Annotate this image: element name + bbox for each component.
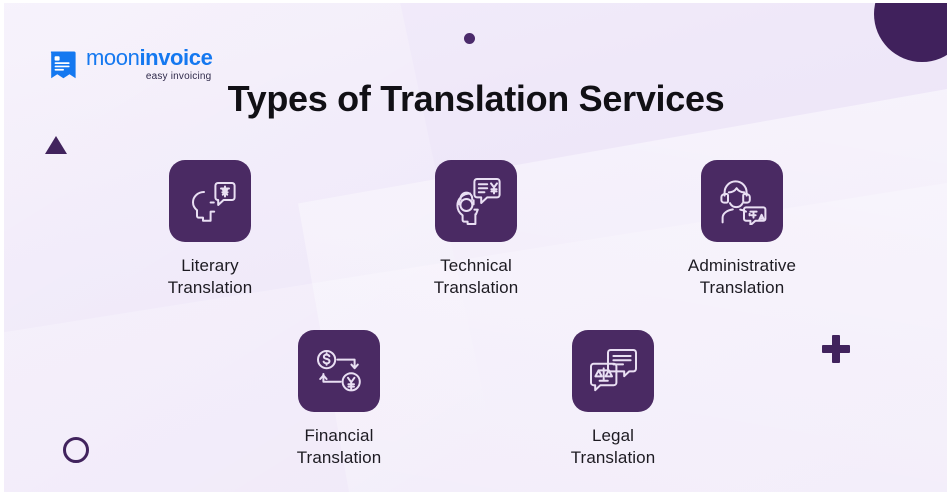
brand-name-bold: invoice <box>139 45 212 70</box>
brand-name-light: moon <box>86 45 139 70</box>
brand-wordmark: mooninvoice easy invoicing <box>86 47 212 82</box>
service-card-literary[interactable]: Literary Translation <box>151 160 269 300</box>
services-row-bottom: Financial Translation Legal Translation <box>230 330 722 470</box>
services-row-top: Literary Translation Tech <box>120 160 832 300</box>
page-edge-bottom <box>0 492 952 496</box>
service-card-legal[interactable]: Legal Translation <box>554 330 672 470</box>
service-label: Literary Translation <box>168 255 253 300</box>
service-icon-tile <box>435 160 517 242</box>
legal-scales-speech-document-icon <box>588 347 638 395</box>
page-edge-top <box>0 0 952 3</box>
ring-decoration <box>63 437 89 463</box>
service-label: Legal Translation <box>571 425 656 470</box>
headset-head-document-yen-icon <box>450 177 502 225</box>
service-icon-tile <box>701 160 783 242</box>
currency-exchange-dollar-yen-icon <box>314 348 364 394</box>
service-card-administrative[interactable]: Administrative Translation <box>683 160 801 300</box>
service-card-technical[interactable]: Technical Translation <box>417 160 535 300</box>
head-speech-bubble-character-icon <box>184 178 236 224</box>
service-label: Technical Translation <box>434 255 519 300</box>
page-title: Types of Translation Services <box>0 78 952 120</box>
support-agent-speech-character-icon <box>716 177 768 225</box>
dot-decoration <box>464 33 475 44</box>
service-label: Administrative Translation <box>688 255 796 300</box>
slide-canvas: mooninvoice easy invoicing Types of Tran… <box>0 0 952 496</box>
service-label: Financial Translation <box>297 425 382 470</box>
plus-decoration <box>822 335 850 363</box>
page-edge-left <box>0 0 4 496</box>
service-icon-tile <box>298 330 380 412</box>
service-icon-tile <box>169 160 251 242</box>
invoice-bookmark-icon <box>48 50 77 80</box>
corner-circle-decoration <box>874 0 952 62</box>
page-edge-right <box>947 0 952 496</box>
brand-logo[interactable]: mooninvoice easy invoicing <box>48 47 212 82</box>
triangle-decoration <box>45 136 67 154</box>
service-card-financial[interactable]: Financial Translation <box>280 330 398 470</box>
service-icon-tile <box>572 330 654 412</box>
